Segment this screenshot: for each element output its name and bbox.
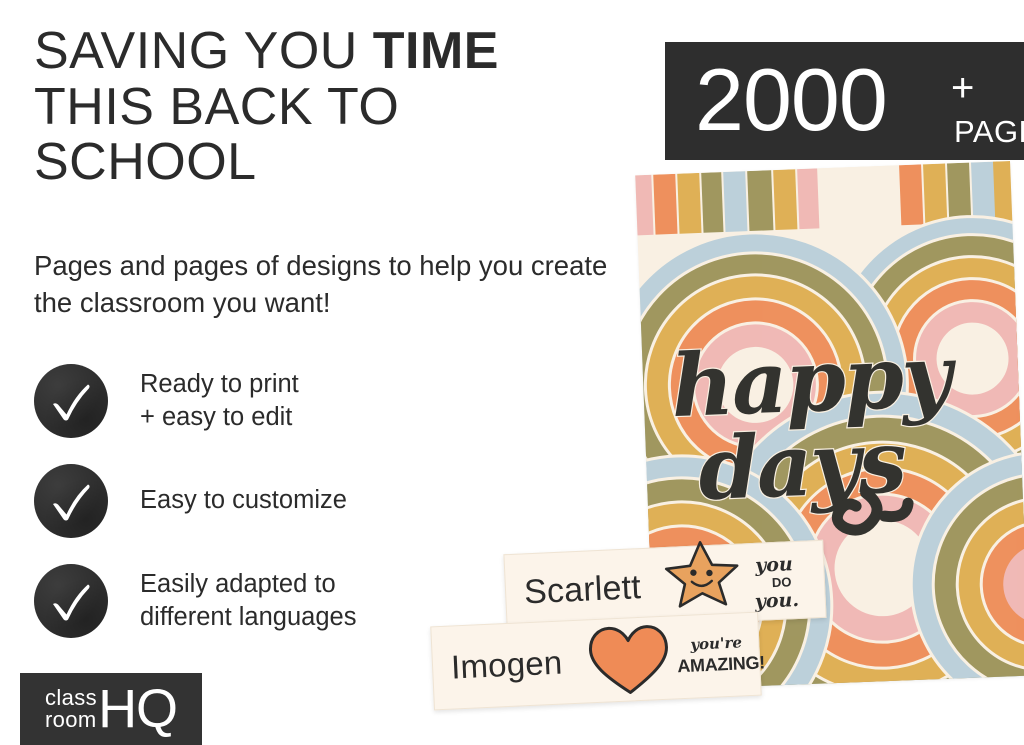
- logo-line-1: class: [45, 687, 97, 709]
- check-icon: [34, 364, 108, 438]
- script-line-2: DO: [772, 574, 792, 590]
- check-icon: [34, 464, 108, 538]
- check-icon: [34, 564, 108, 638]
- name-label-text: Imogen: [450, 644, 563, 687]
- page-title: SAVING YOU TIME THIS BACK TO SCHOOL: [34, 24, 634, 191]
- name-label-card: Imogen you're AMAZING!: [430, 612, 761, 711]
- page-count-badge: 2000 + PAGES: [665, 42, 1024, 160]
- script-line-1: you're: [689, 633, 742, 653]
- badge-number: 2000: [695, 56, 887, 144]
- list-item: Ready to print + easy to edit: [34, 358, 634, 444]
- subheadline: Pages and pages of designs to help you c…: [34, 248, 624, 321]
- list-item-label: Easily adapted to different languages: [140, 568, 356, 634]
- headline-line-3: SCHOOL: [34, 133, 257, 191]
- script-line-2: AMAZING!: [677, 652, 765, 676]
- name-label-text: Scarlett: [523, 568, 642, 612]
- headline-line-2: THIS BACK TO: [34, 78, 399, 136]
- logo-mark-hq: HQ: [98, 678, 177, 740]
- heart-icon: [583, 621, 674, 701]
- handwritten-message: you DO you.: [753, 549, 826, 614]
- list-item-label: Ready to print + easy to edit: [140, 368, 299, 434]
- smiling-star-icon: [662, 537, 741, 610]
- list-item-label: Easy to customize: [140, 484, 347, 517]
- logo-line-2: room: [45, 709, 97, 731]
- brand-logo: class room HQ: [20, 673, 202, 745]
- badge-plus-symbol: +: [951, 68, 974, 108]
- list-item: Easy to customize: [34, 458, 634, 544]
- script-line-1: you: [754, 553, 793, 577]
- headline-line-1-emphasis: TIME: [373, 22, 499, 80]
- handwritten-message: you're AMAZING!: [676, 626, 770, 686]
- script-line-3: you.: [753, 589, 799, 613]
- headline-line-1-normal: SAVING YOU: [34, 22, 373, 80]
- promo-graphic-canvas: SAVING YOU TIME THIS BACK TO SCHOOL Page…: [0, 0, 1024, 745]
- badge-unit-label: PAGES: [954, 116, 1024, 147]
- headline-line-1: SAVING YOU TIME: [34, 22, 499, 80]
